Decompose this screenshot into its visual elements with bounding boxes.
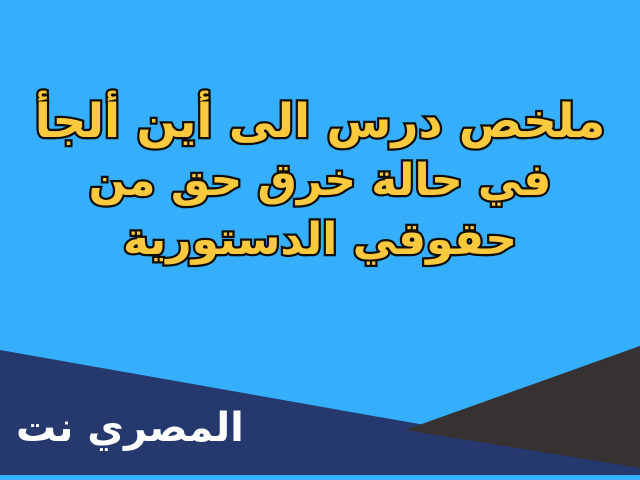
brand-name-text: المصري نت xyxy=(16,405,244,451)
bottom-blue-strip xyxy=(0,475,640,480)
brand-logo: المصري نت xyxy=(16,403,244,453)
poster-canvas: ملخص درس الى أين ألجأ في حالة خرق حق من … xyxy=(0,0,640,480)
